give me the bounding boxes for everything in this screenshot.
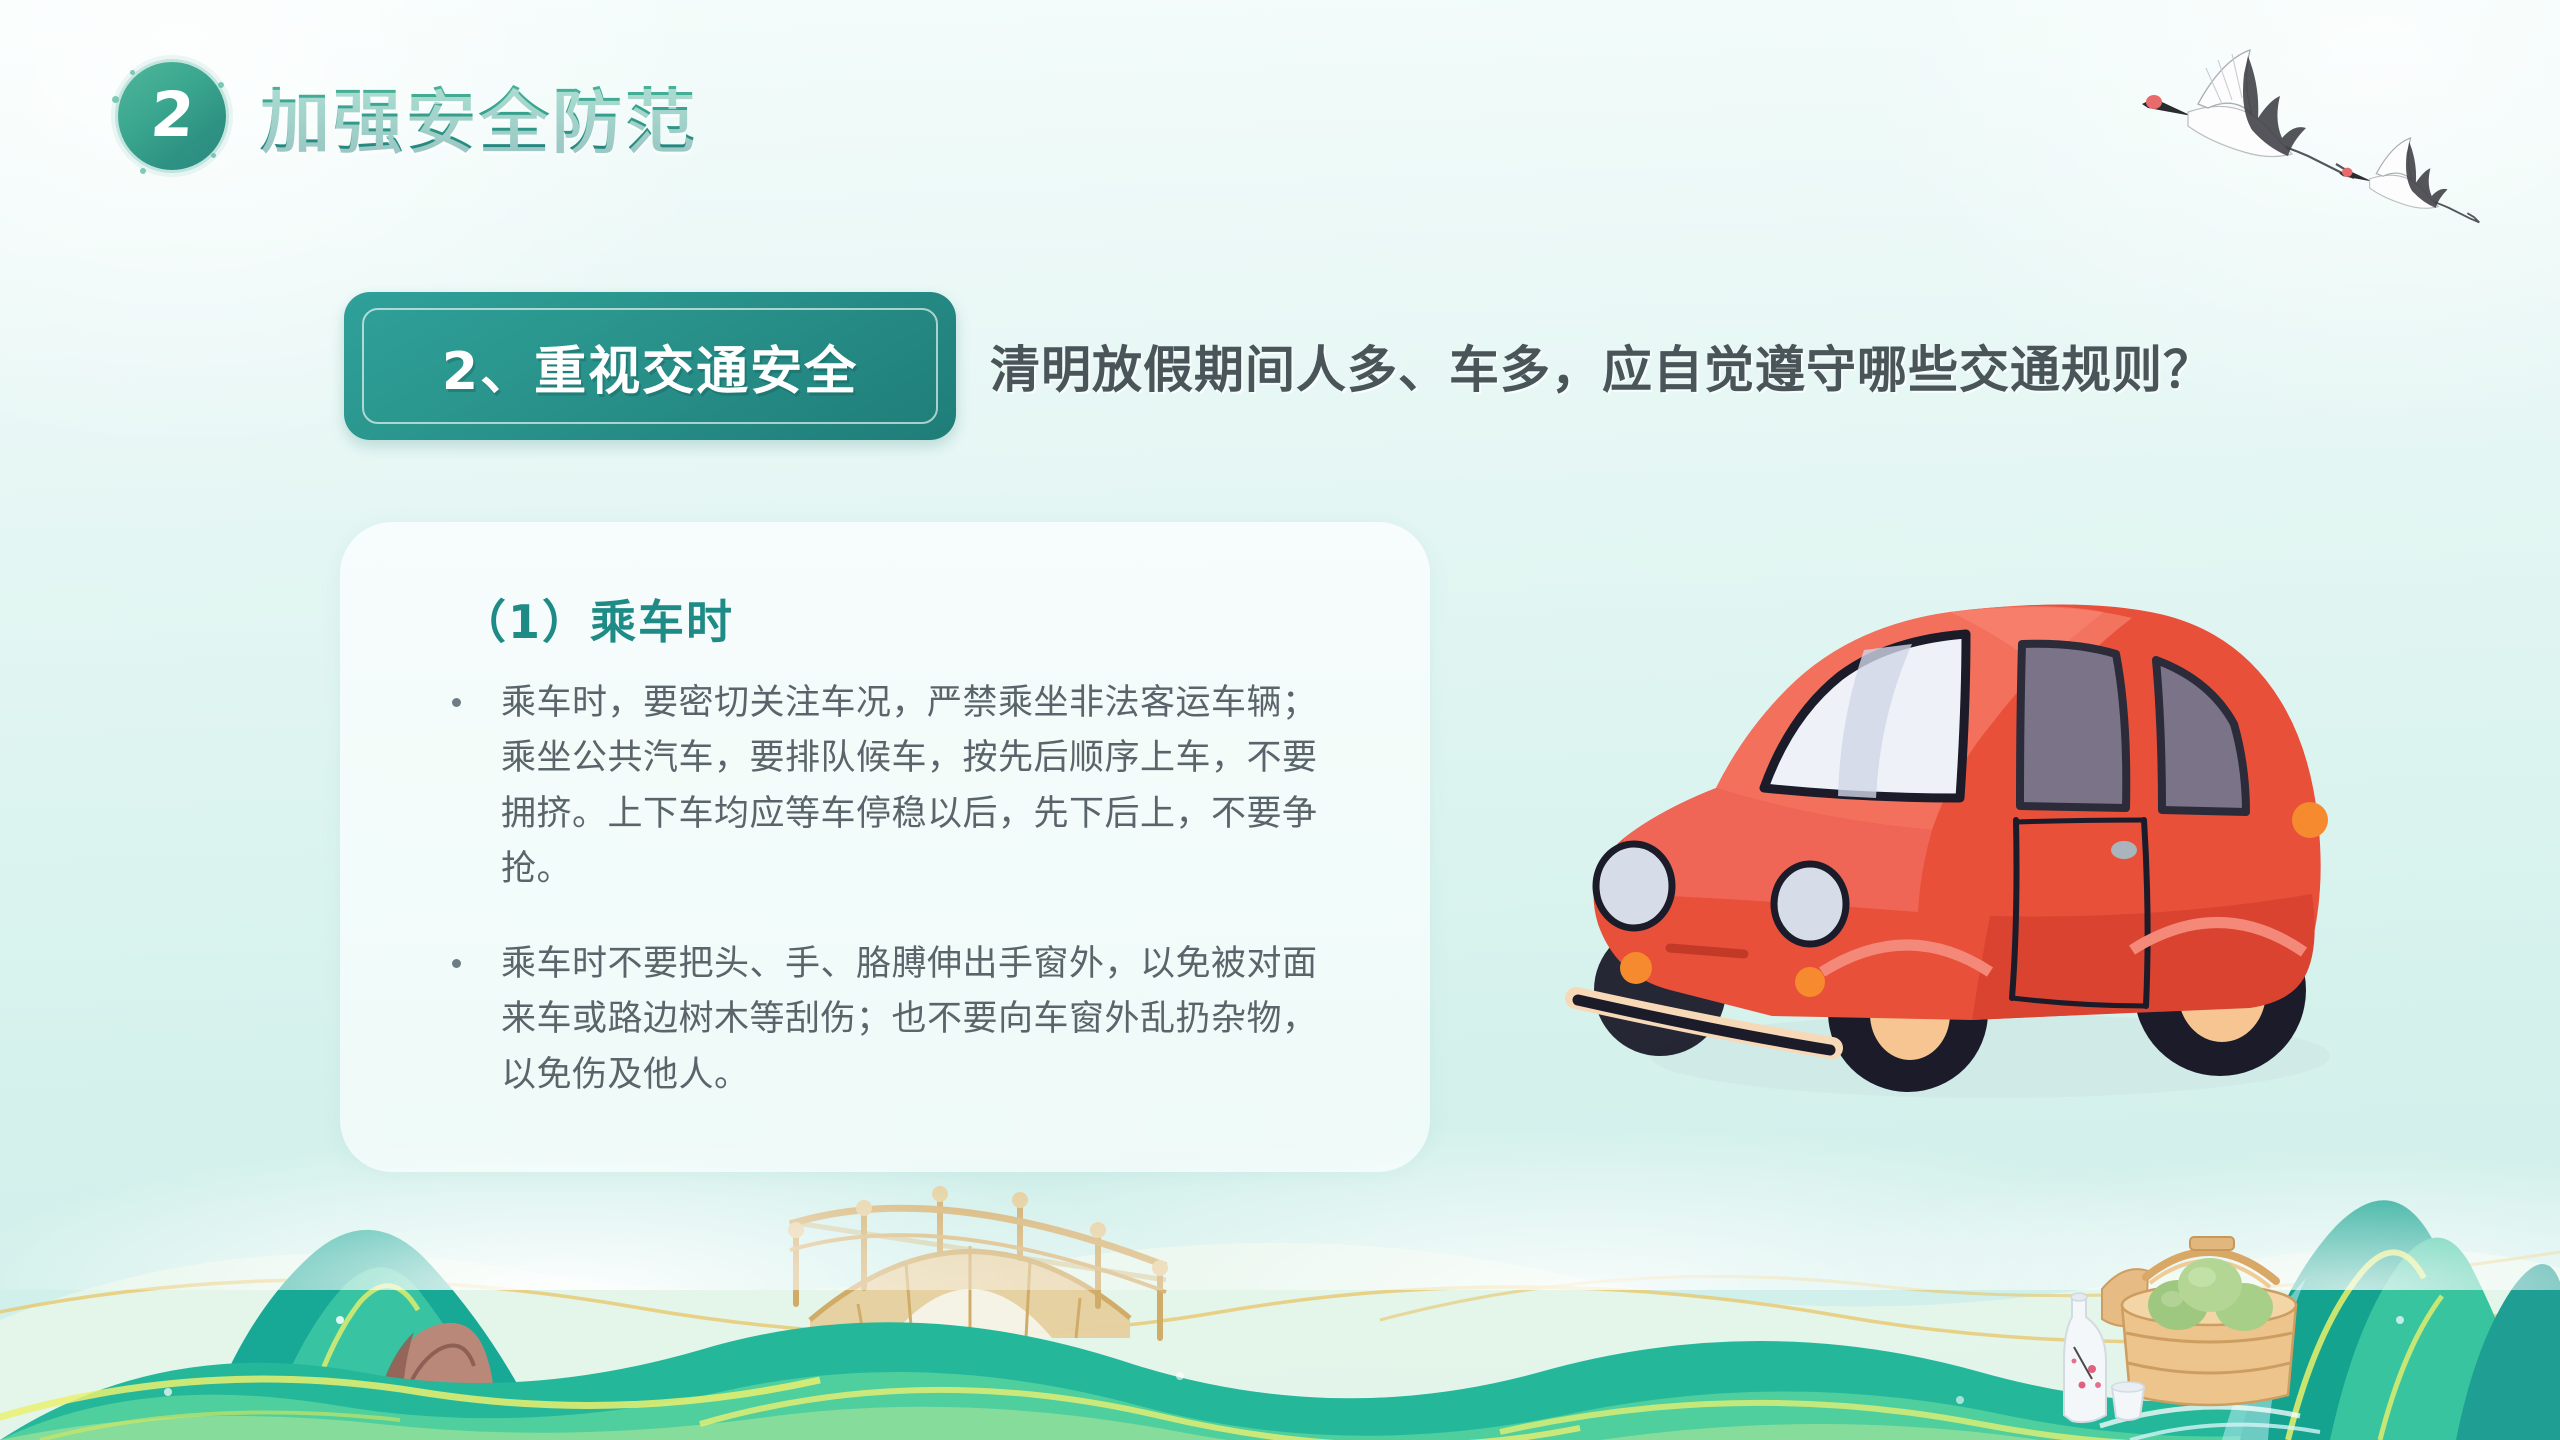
flying-cranes-icon	[2110, 18, 2530, 238]
qingtuan-basket-illustration	[2050, 1219, 2380, 1434]
slide-root: 2 加强安全防范	[0, 0, 2560, 1440]
list-item: 乘车时，要密切关注车况，严禁乘坐非法客运车辆；乘坐公共汽车，要排队候车，按先后顺…	[452, 676, 1346, 897]
bullet-dot-icon	[452, 959, 461, 968]
section-tag-label: 2、重视交通安全	[442, 329, 858, 404]
section-number-text: 2	[114, 60, 230, 168]
bullet-dot-icon	[452, 698, 461, 707]
question-text: 清明放假期间人多、车多，应自觉遵守哪些交通规则？	[990, 330, 2214, 402]
slide-header: 2 加强安全防范	[118, 62, 698, 170]
page-title: 加强安全防范	[260, 66, 698, 167]
card-title: （1）乘车时	[460, 586, 734, 652]
section-number-badge: 2	[118, 62, 226, 170]
badge-speck	[140, 168, 146, 174]
section-tag[interactable]: 2、重视交通安全	[344, 292, 956, 440]
list-item-text: 乘车时，要密切关注车况，严禁乘坐非法客运车辆；乘坐公共汽车，要排队候车，按先后顺…	[501, 676, 1346, 897]
